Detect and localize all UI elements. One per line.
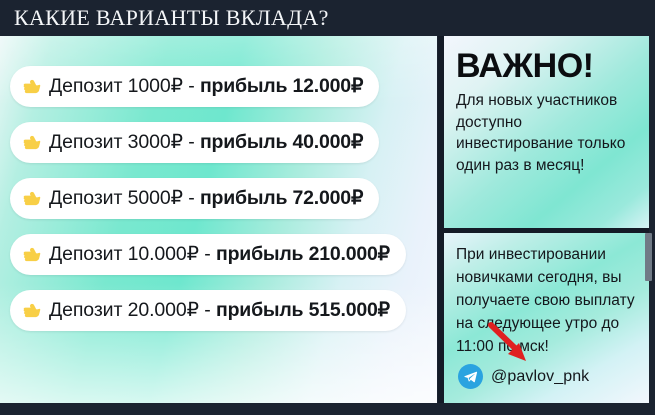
list-item[interactable]: Депозит 3000₽ - прибыль 40.000₽	[10, 122, 379, 163]
deposit-amount-label: Депозит 10.000₽ -	[49, 243, 216, 265]
info-panel: ВАЖНО! Для новых участников доступно инв…	[444, 36, 649, 403]
vertical-divider	[438, 36, 444, 403]
list-item[interactable]: Депозит 5000₽ - прибыль 72.000₽	[10, 178, 379, 219]
list-item-text: Депозит 20.000₽ - прибыль 515.000₽	[49, 298, 390, 322]
list-item-text: Депозит 5000₽ - прибыль 72.000₽	[49, 186, 363, 210]
profit-amount-label: прибыль 72.000₽	[200, 187, 363, 209]
list-item[interactable]: Депозит 10.000₽ - прибыль 210.000₽	[10, 234, 406, 275]
pointing-right-hand-icon	[22, 246, 42, 263]
deposit-amount-label: Депозит 3000₽ -	[49, 131, 200, 153]
important-notice-section: ВАЖНО! Для новых участников доступно инв…	[444, 36, 649, 228]
deposit-amount-label: Депозит 20.000₽ -	[49, 299, 216, 321]
profit-amount-label: прибыль 40.000₽	[200, 131, 363, 153]
list-item-wrapper: Депозит 10.000₽ - прибыль 210.000₽	[0, 234, 437, 290]
list-item-wrapper: Депозит 5000₽ - прибыль 72.000₽	[0, 178, 437, 234]
deposit-options-panel: Депозит 1000₽ - прибыль 12.000₽ Депозит …	[0, 36, 437, 403]
list-item-text: Депозит 1000₽ - прибыль 12.000₽	[49, 74, 363, 98]
list-item[interactable]: Депозит 20.000₽ - прибыль 515.000₽	[10, 290, 406, 331]
list-item-wrapper: Депозит 3000₽ - прибыль 40.000₽	[0, 122, 437, 178]
deposit-list: Депозит 1000₽ - прибыль 12.000₽ Депозит …	[0, 36, 437, 346]
deposit-amount-label: Депозит 1000₽ -	[49, 75, 200, 97]
telegram-icon	[458, 364, 483, 389]
right-edge-border	[649, 36, 655, 403]
pointing-right-hand-icon	[22, 134, 42, 151]
profit-amount-label: прибыль 12.000₽	[200, 75, 363, 97]
pointing-right-hand-icon	[22, 78, 42, 95]
red-arrow-icon	[486, 321, 532, 367]
pointing-right-hand-icon	[22, 190, 42, 207]
profit-amount-label: прибыль 515.000₽	[216, 299, 390, 321]
telegram-handle-label: @pavlov_pnk	[491, 368, 589, 386]
title-bar: КАКИЕ ВАРИАНТЫ ВКЛАДА?	[0, 0, 655, 36]
page-title: КАКИЕ ВАРИАНТЫ ВКЛАДА?	[14, 4, 329, 32]
horizontal-divider	[444, 228, 649, 233]
screenshot-root: КАКИЕ ВАРИАНТЫ ВКЛАДА? Депозит 1000₽ - п…	[0, 0, 655, 415]
telegram-contact[interactable]: @pavlov_pnk	[458, 364, 589, 389]
list-item-wrapper: Депозит 1000₽ - прибыль 12.000₽	[0, 66, 437, 122]
list-item[interactable]: Депозит 1000₽ - прибыль 12.000₽	[10, 66, 379, 107]
notice-heading: ВАЖНО!	[456, 46, 641, 86]
profit-amount-label: прибыль 210.000₽	[216, 243, 390, 265]
list-item-wrapper: Депозит 20.000₽ - прибыль 515.000₽	[0, 290, 437, 346]
notice-body-text: Для новых участников доступно инвестиров…	[456, 90, 641, 176]
deposit-amount-label: Депозит 5000₽ -	[49, 187, 200, 209]
payout-body-text: При инвестировании новичками сегодня, вы…	[456, 243, 641, 358]
list-item-text: Депозит 10.000₽ - прибыль 210.000₽	[49, 242, 390, 266]
list-item-text: Депозит 3000₽ - прибыль 40.000₽	[49, 130, 363, 154]
bottom-bar	[0, 403, 655, 415]
pointing-right-hand-icon	[22, 302, 42, 319]
scrollbar-thumb[interactable]	[645, 233, 652, 281]
payout-section: При инвестировании новичками сегодня, вы…	[444, 232, 649, 403]
